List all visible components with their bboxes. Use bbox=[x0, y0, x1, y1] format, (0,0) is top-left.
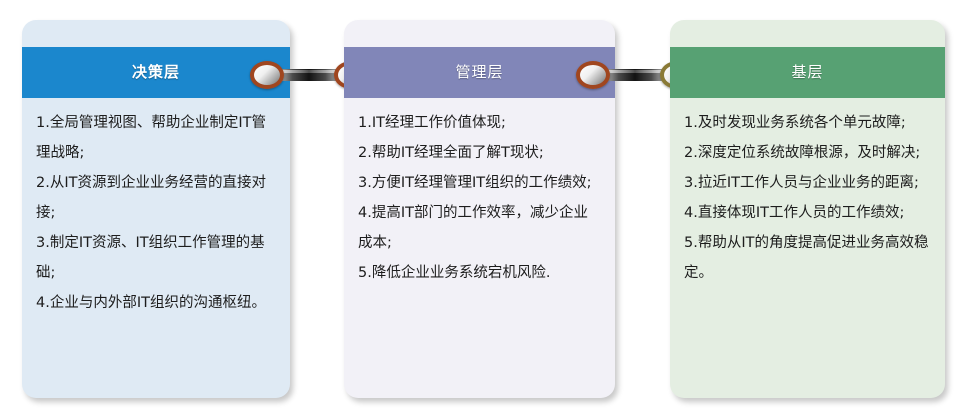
card-line: 3.制定IT资源、IT组织工作管理的基础; bbox=[36, 228, 276, 288]
layer-card-frontline[interactable]: 基层 1.及时发现业务系统各个单元故障; 2.深度定位系统故障根源，及时解决; … bbox=[670, 20, 945, 398]
connector-ring-left-icon bbox=[250, 61, 284, 89]
card-line: 2.深度定位系统故障根源，及时解决; bbox=[684, 138, 931, 168]
card-line: 3.拉近IT工作人员与企业业务的距离; bbox=[684, 168, 931, 198]
card-inner: 管理层 1.IT经理工作价值体现; 2.帮助IT经理全面了解T现状; 3.方便I… bbox=[344, 20, 615, 398]
card-title-decision: 决策层 bbox=[132, 65, 180, 80]
card-line: 2.帮助IT经理全面了解T现状; bbox=[358, 138, 601, 168]
card-line: 4.提高IT部门的工作效率，减少企业成本; bbox=[358, 198, 601, 258]
card-header-management: 管理层 bbox=[344, 47, 615, 98]
diagram-board: 决策层 1.全局管理视图、帮助企业制定IT管理战略; 2.从IT资源到企业业务经… bbox=[0, 0, 960, 416]
card-line: 5.降低企业业务系统宕机风险. bbox=[358, 258, 601, 288]
card-title-frontline: 基层 bbox=[791, 65, 823, 80]
card-body-decision: 1.全局管理视图、帮助企业制定IT管理战略; 2.从IT资源到企业业务经营的直接… bbox=[22, 98, 290, 398]
card-line: 2.从IT资源到企业业务经营的直接对接; bbox=[36, 168, 276, 228]
card-inner: 基层 1.及时发现业务系统各个单元故障; 2.深度定位系统故障根源，及时解决; … bbox=[670, 20, 945, 398]
card-line: 4.直接体现IT工作人员的工作绩效; bbox=[684, 198, 931, 228]
card-header-frontline: 基层 bbox=[670, 47, 945, 98]
card-line: 1.IT经理工作价值体现; bbox=[358, 108, 601, 138]
layer-card-management[interactable]: 管理层 1.IT经理工作价值体现; 2.帮助IT经理全面了解T现状; 3.方便I… bbox=[344, 20, 615, 398]
card-line: 1.全局管理视图、帮助企业制定IT管理战略; bbox=[36, 108, 276, 168]
card-line: 5.帮助从IT的角度提高促进业务高效稳定。 bbox=[684, 228, 931, 288]
card-line: 4.企业与内外部IT组织的沟通枢纽。 bbox=[36, 288, 276, 318]
card-title-management: 管理层 bbox=[455, 65, 503, 80]
card-body-management: 1.IT经理工作价值体现; 2.帮助IT经理全面了解T现状; 3.方便IT经理管… bbox=[344, 98, 615, 398]
card-line: 1.及时发现业务系统各个单元故障; bbox=[684, 108, 931, 138]
card-line: 3.方便IT经理管理IT组织的工作绩效; bbox=[358, 168, 601, 198]
connector-ring-left-icon bbox=[576, 61, 610, 89]
card-body-frontline: 1.及时发现业务系统各个单元故障; 2.深度定位系统故障根源，及时解决; 3.拉… bbox=[670, 98, 945, 398]
